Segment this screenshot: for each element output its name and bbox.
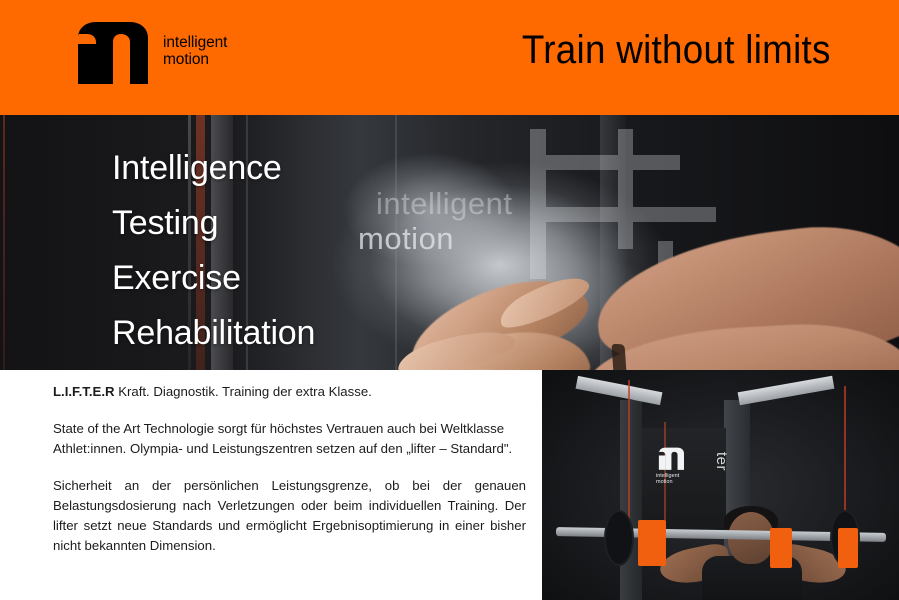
hero-background-wordmark: intelligent motion — [358, 223, 454, 254]
machine-side-label: ter — [713, 452, 730, 471]
barbell-clamp-right — [838, 528, 858, 568]
hero-background-wordmark-top: intelligent — [376, 188, 512, 219]
body-paragraph-3: Sicherheit an der persönlichen Leistungs… — [53, 476, 526, 556]
marketing-page: intelligent motion Train without limits — [0, 0, 899, 600]
hero-keyword-intelligence: Intelligence — [112, 141, 315, 196]
body-paragraph-2: State of the Art Technologie sorgt für h… — [53, 419, 526, 459]
brand-wordmark-line1: intelligent — [163, 35, 227, 52]
hero-keyword-rehabilitation: Rehabilitation — [112, 306, 315, 361]
machine-brand-wordmark: intelligent motion — [656, 473, 708, 486]
brand-wordmark-line2: motion — [163, 52, 227, 69]
barbell-clamp-left — [638, 520, 666, 566]
body-copy: L.I.F.T.E.R Kraft. Diagnostik. Training … — [53, 382, 526, 573]
m-logo-icon — [70, 18, 148, 84]
product-name-lifter: L.I.F.T.E.R — [53, 384, 115, 399]
hero-keyword-list: Intelligence Testing Exercise Rehabilita… — [112, 141, 315, 361]
hero-banner: intelligent motion Intelligence Testing … — [0, 115, 899, 370]
m-logo-icon — [656, 446, 684, 470]
barbell-clamp-middle — [770, 528, 792, 568]
hero-keyword-exercise: Exercise — [112, 251, 315, 306]
content-section: L.I.F.T.E.R Kraft. Diagnostik. Training … — [0, 370, 899, 600]
machine-brand-logo: intelligent motion — [656, 446, 708, 486]
hero-keyword-testing: Testing — [112, 196, 315, 251]
brand-wordmark: intelligent motion — [163, 35, 227, 68]
hero-background-wordmark-main: motion — [358, 221, 454, 256]
brand-logo[interactable]: intelligent motion — [70, 18, 227, 84]
body-paragraph-1-text: Kraft. Diagnostik. Training der extra Kl… — [115, 384, 372, 399]
product-photo: intelligent motion ter — [542, 370, 899, 600]
rig-column-left — [620, 400, 642, 600]
header-band: intelligent motion Train without limits — [0, 0, 899, 115]
body-paragraph-1: L.I.F.T.E.R Kraft. Diagnostik. Training … — [53, 382, 526, 402]
rig-cable — [628, 380, 630, 536]
weight-plate-left — [604, 510, 634, 566]
page-headline: Train without limits — [522, 30, 831, 70]
machine-brand-wordmark-line2: motion — [656, 479, 708, 485]
